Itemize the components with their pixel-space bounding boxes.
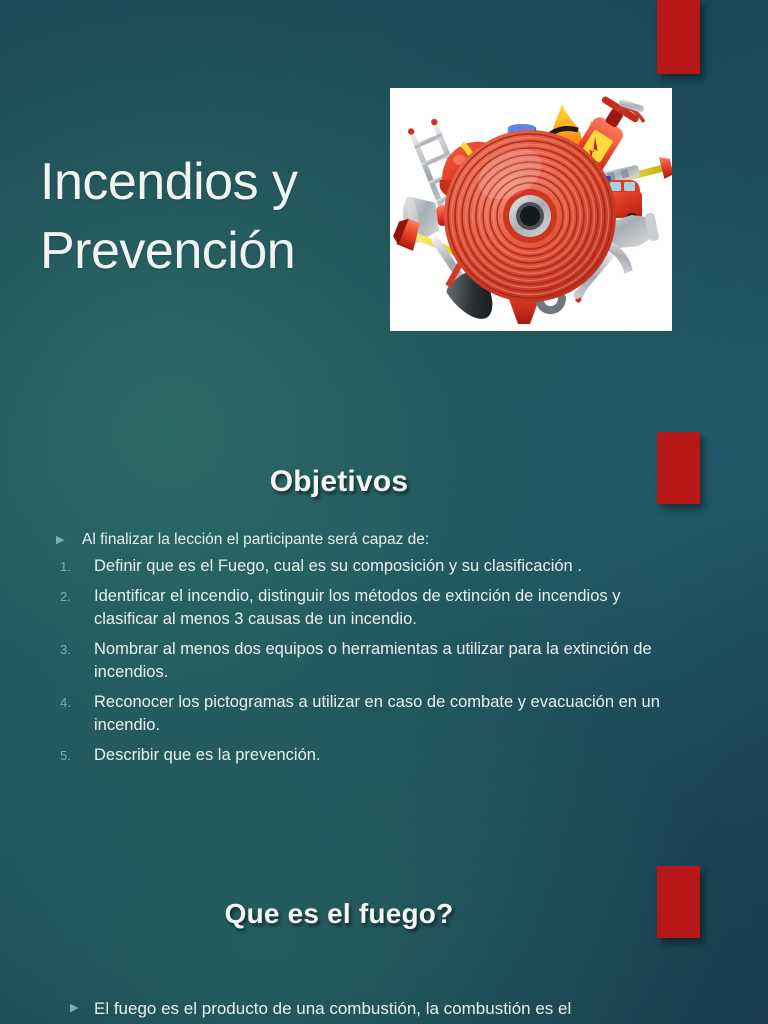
firefighting-equipment-image	[390, 88, 672, 331]
list-item: 1. Definir que es el Fuego, cual es su c…	[56, 555, 666, 578]
fuego-paragraph: ▶ El fuego es el producto de una combust…	[70, 996, 670, 1021]
section-heading-que-es-el-fuego: Que es el fuego?	[0, 898, 678, 930]
list-marker: 3.	[56, 638, 94, 661]
presentation-page: Incendios y Prevención	[0, 0, 768, 1024]
bullet-triangle-icon: ▶	[56, 528, 82, 552]
list-item-text: Definir que es el Fuego, cual es su comp…	[94, 555, 582, 578]
section-heading-objetivos: Objetivos	[0, 465, 678, 499]
list-item-text: Describir que es la prevención.	[94, 744, 321, 767]
bullet-triangle-icon: ▶	[70, 996, 94, 1020]
list-item: 4. Reconocer los pictogramas a utilizar …	[56, 691, 666, 737]
list-item-text: Identificar el incendio, distinguir los …	[94, 585, 666, 631]
fuego-text: El fuego es el producto de una combustió…	[94, 996, 571, 1021]
list-marker: 5.	[56, 744, 94, 767]
list-item: 3. Nombrar al menos dos equipos o herram…	[56, 638, 666, 684]
objectives-list: ▶ Al finalizar la lección el participant…	[56, 528, 666, 774]
list-marker: 4.	[56, 691, 94, 714]
list-item-lead: ▶ Al finalizar la lección el participant…	[56, 528, 666, 552]
lead-text: Al finalizar la lección el participante …	[82, 528, 429, 551]
list-marker: 2.	[56, 585, 94, 608]
list-item-text: Nombrar al menos dos equipos o herramien…	[94, 638, 666, 684]
list-item-text: Reconocer los pictogramas a utilizar en …	[94, 691, 666, 737]
accent-bar-top	[657, 0, 700, 74]
list-item: 2. Identificar el incendio, distinguir l…	[56, 585, 666, 631]
list-item: 5. Describir que es la prevención.	[56, 744, 666, 767]
slide-title: Incendios y Prevención	[40, 148, 390, 285]
list-marker: 1.	[56, 555, 94, 578]
